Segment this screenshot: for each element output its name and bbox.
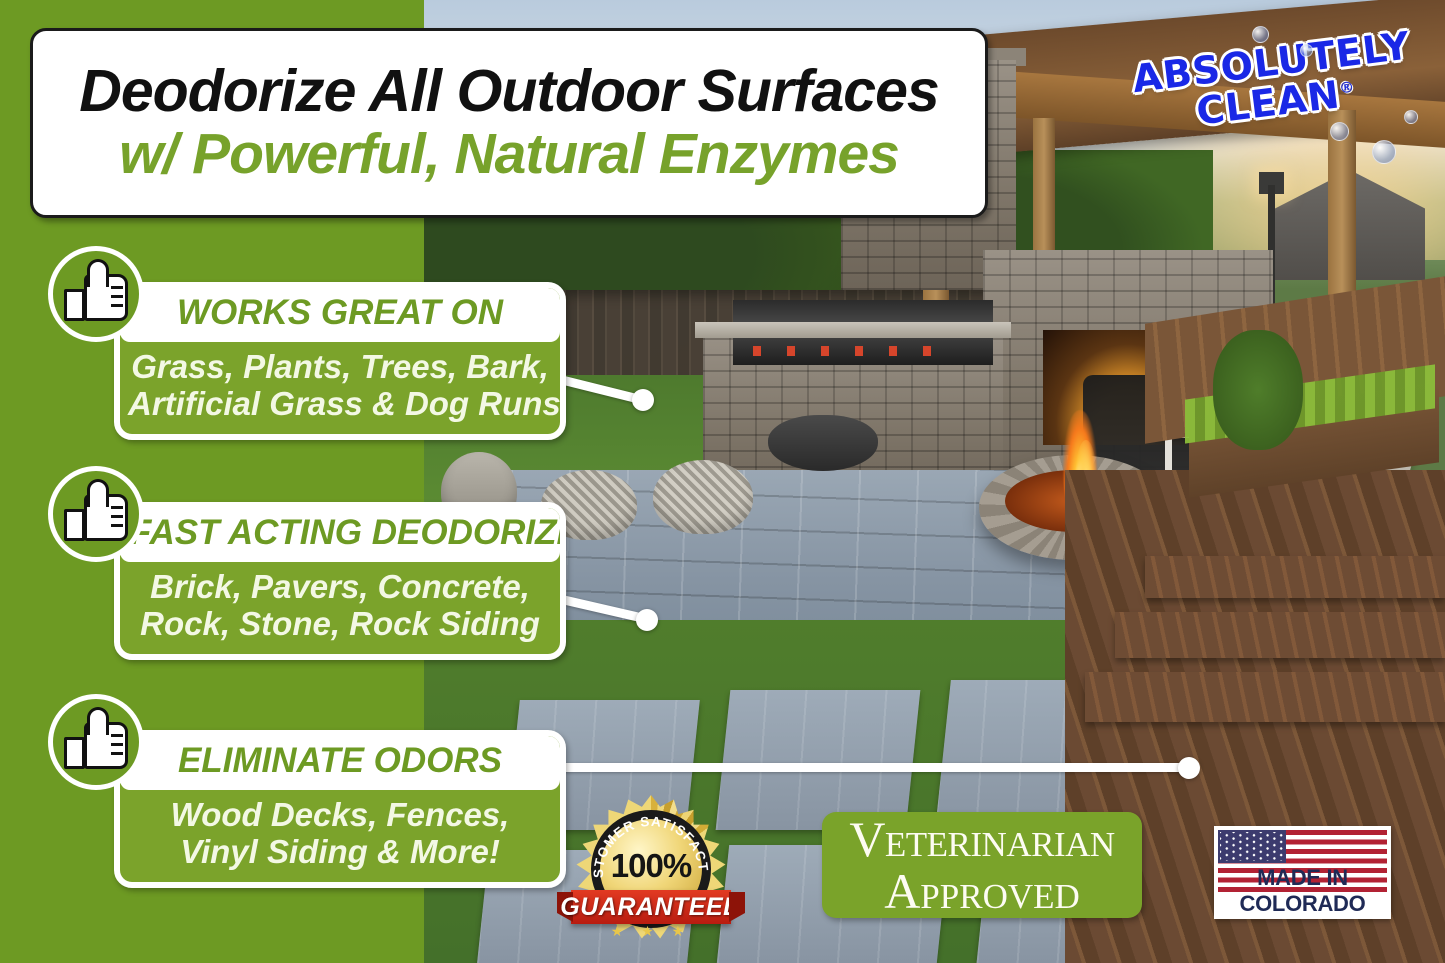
- grill-knobs: [753, 346, 953, 356]
- thumbs-up-glyph: [64, 485, 128, 543]
- feature-title: ELIMINATE ODORS: [120, 736, 560, 790]
- headline-line-1: Deodorize All Outdoor Surfaces: [79, 61, 939, 121]
- headline-banner: Deodorize All Outdoor Surfaces w/ Powerf…: [30, 28, 988, 218]
- stepping-stone: [716, 690, 921, 830]
- thumb-knuckle-3: [111, 524, 123, 527]
- seal-percent: 100%: [575, 847, 727, 885]
- thumb-knuckle-3: [111, 304, 123, 307]
- thumb-cuff: [64, 509, 85, 541]
- deck-step-1: [1145, 556, 1445, 598]
- made-in-colorado-badge: MADE IN COLORADO: [1214, 826, 1391, 919]
- thumbs-up-glyph: [64, 713, 128, 771]
- thumbs-up-icon: [48, 466, 144, 562]
- feature-body-line: Artificial Grass & Dog Runs: [128, 386, 552, 423]
- feature-body-line: Vinyl Siding & More!: [128, 834, 552, 871]
- thumbs-up-glyph: [64, 265, 128, 323]
- deck-step-2: [1115, 612, 1445, 658]
- guaranteed-ribbon: GUARANTEED: [571, 890, 731, 924]
- feature-card: FAST ACTING DEODORIZER Brick, Pavers, Co…: [114, 502, 566, 660]
- feature-body: Grass, Plants, Trees, Bark, Artificial G…: [120, 342, 560, 434]
- thumbs-up-icon: [48, 694, 144, 790]
- feature-body: Brick, Pavers, Concrete, Rock, Stone, Ro…: [120, 562, 560, 654]
- thumb-knuckle-1: [111, 506, 123, 509]
- bubble-icon-3: [1330, 122, 1349, 141]
- feature-body-line: Rock, Stone, Rock Siding: [128, 606, 552, 643]
- woven-lantern-2: [653, 460, 753, 534]
- thumb-cuff: [64, 289, 85, 321]
- thumb-knuckle-2: [111, 515, 123, 518]
- thumb-knuckle-1: [111, 286, 123, 289]
- product-feature-poster: Deodorize All Outdoor Surfaces w/ Powerf…: [0, 0, 1445, 963]
- registered-trademark-icon: ®: [1338, 78, 1356, 98]
- satisfaction-guarantee-seal: CUSTOMER SATISFACTION 100% GUARANTEED ★ …: [575, 795, 727, 943]
- flag-stars: [1220, 832, 1284, 861]
- thumb-knuckle-1: [111, 734, 123, 737]
- thumb-cuff: [64, 737, 85, 769]
- counter-top: [695, 322, 1011, 338]
- feature-card: WORKS GREAT ON Grass, Plants, Trees, Bar…: [114, 282, 566, 440]
- feature-body: Wood Decks, Fences, Vinyl Siding & More!: [120, 790, 560, 882]
- thumbs-up-icon: [48, 246, 144, 342]
- thumb-knuckle-2: [111, 295, 123, 298]
- feature-title: WORKS GREAT ON: [120, 288, 560, 342]
- bubble-icon-5: [1404, 110, 1418, 124]
- thumb-up-digit: [87, 479, 109, 507]
- deck-step-3: [1085, 672, 1445, 722]
- potted-shrub: [1213, 330, 1303, 450]
- pointer-line-3: [508, 763, 1188, 772]
- bubble-icon-2: [1300, 44, 1313, 57]
- pointer-dot-2: [636, 609, 658, 631]
- flag-canton: [1218, 830, 1286, 863]
- vet-badge-line-1: Veterinarian: [849, 814, 1114, 864]
- feature-card: ELIMINATE ODORS Wood Decks, Fences, Viny…: [114, 730, 566, 888]
- seal-stars: ★ ★ ★: [575, 923, 727, 940]
- bubble-icon-1: [1252, 26, 1269, 43]
- feature-body-line: Wood Decks, Fences,: [128, 797, 552, 834]
- thumb-knuckle-3: [111, 752, 123, 755]
- headline-line-2: w/ Powerful, Natural Enzymes: [119, 125, 899, 185]
- feature-title: FAST ACTING DEODORIZER: [120, 508, 560, 562]
- kettle-smoker: [768, 415, 878, 471]
- made-in-colorado-label: MADE IN COLORADO: [1214, 865, 1391, 917]
- feature-body-line: Grass, Plants, Trees, Bark,: [128, 349, 552, 386]
- pointer-dot-1: [632, 389, 654, 411]
- feature-body-line: Brick, Pavers, Concrete,: [128, 569, 552, 606]
- guaranteed-label: GUARANTEED: [571, 890, 731, 924]
- vet-badge-line-2: Approved: [884, 866, 1080, 916]
- thumb-up-digit: [87, 707, 109, 735]
- pointer-dot-3: [1178, 757, 1200, 779]
- veterinarian-approved-badge: Veterinarian Approved: [822, 812, 1142, 918]
- thumb-knuckle-2: [111, 743, 123, 746]
- thumb-up-digit: [87, 259, 109, 287]
- bubble-icon-4: [1372, 140, 1396, 164]
